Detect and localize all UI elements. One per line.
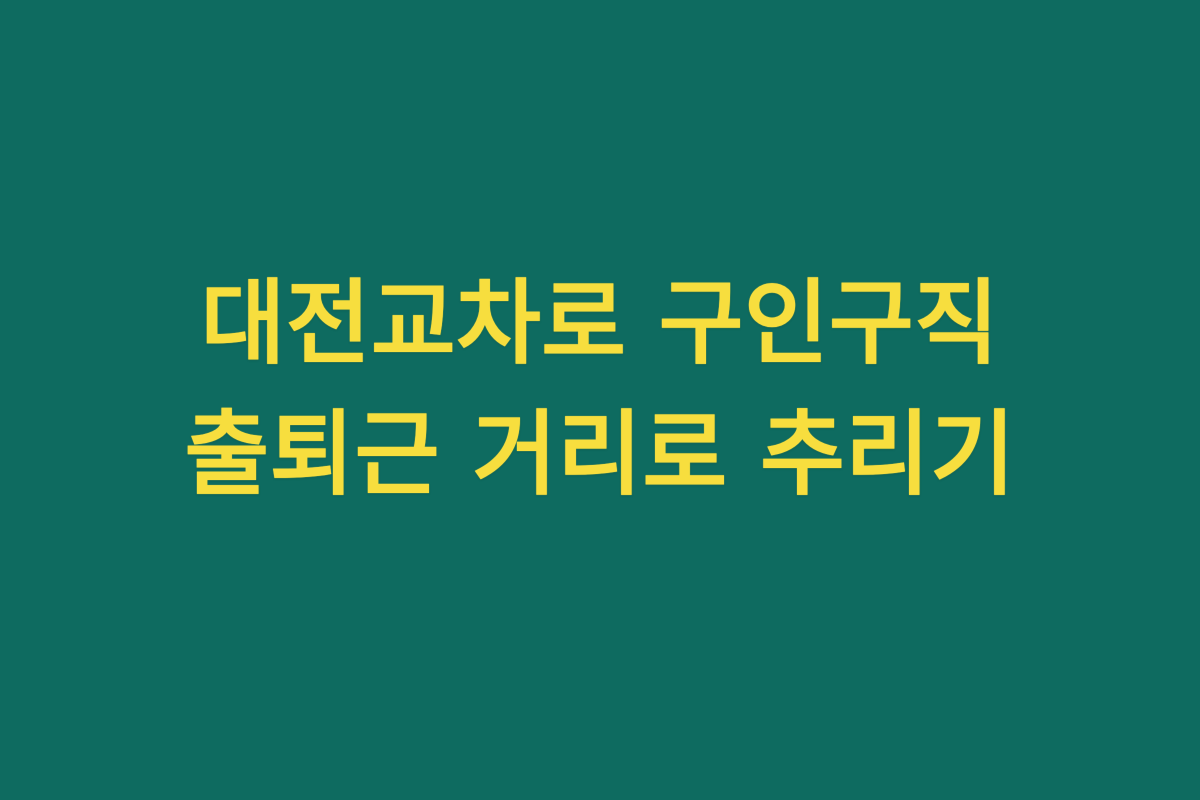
headline-text: 대전교차로 구인구직 출퇴근 거리로 추리기: [90, 259, 1110, 520]
headline-container: 대전교차로 구인구직 출퇴근 거리로 추리기: [90, 259, 1110, 520]
banner-canvas: 대전교차로 구인구직 출퇴근 거리로 추리기: [0, 0, 1200, 800]
